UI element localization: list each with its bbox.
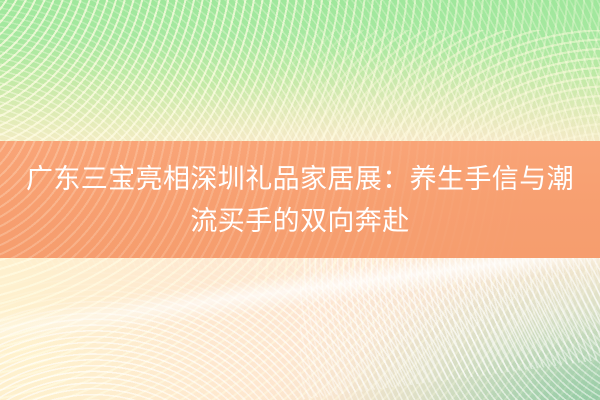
headline-band: 广东三宝亮相深圳礼品家居展：养生手信与潮流买手的双向奔赴 <box>0 141 600 258</box>
banner-headline: 广东三宝亮相深圳礼品家居展：养生手信与潮流买手的双向奔赴 <box>20 158 580 242</box>
promo-banner: 广东三宝亮相深圳礼品家居展：养生手信与潮流买手的双向奔赴 <box>0 0 600 400</box>
